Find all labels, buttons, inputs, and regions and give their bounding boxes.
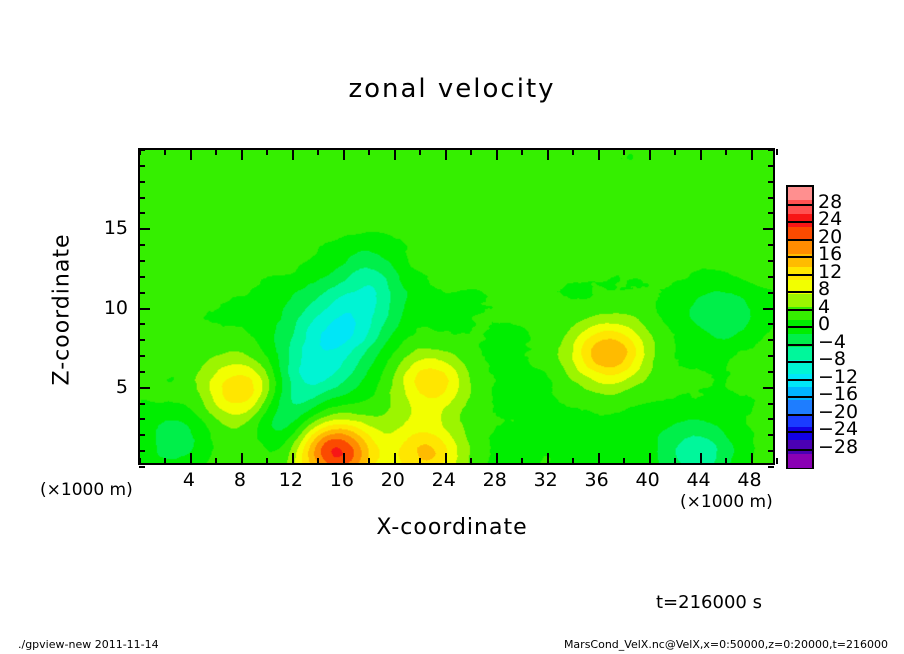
y-axis-title: Z-coordinate: [50, 180, 75, 440]
y-tick: [768, 212, 774, 214]
x-tick: [419, 458, 421, 464]
x-tick: [776, 149, 778, 155]
y-tick: [139, 244, 145, 246]
x-tick: [266, 458, 268, 464]
x-tick: [190, 453, 192, 464]
time-annotation: t=216000 s: [656, 592, 762, 613]
x-tick: [649, 149, 651, 160]
x-tick: [700, 149, 702, 160]
y-tick: [139, 228, 150, 230]
y-tick: [139, 387, 150, 389]
y-tick: [139, 339, 145, 341]
x-tick: [674, 149, 676, 155]
colorbar-level-line: [788, 326, 812, 328]
x-tick: [572, 149, 574, 155]
x-tick: [751, 453, 753, 464]
x-tick: [164, 458, 166, 464]
x-tick: [725, 149, 727, 155]
colorbar-level-line: [788, 449, 812, 451]
x-tick: [215, 149, 217, 155]
y-tick: [139, 403, 145, 405]
x-tick: [496, 453, 498, 464]
x-tick: [292, 453, 294, 464]
colorbar-band: [788, 414, 812, 428]
y-tick: [768, 371, 774, 373]
y-tick: [139, 165, 145, 167]
x-tick: [419, 149, 421, 155]
x-tick-label: 4: [169, 469, 209, 491]
y-tick: [763, 387, 774, 389]
y-tick: [763, 228, 774, 230]
colorbar-band: [788, 187, 812, 201]
x-tick: [241, 149, 243, 160]
y-tick: [768, 292, 774, 294]
colorbar-level-line: [788, 414, 812, 416]
colorbar-level-line: [788, 344, 812, 346]
x-axis-units-left: (×1000 m): [40, 480, 133, 500]
x-tick: [139, 458, 141, 464]
x-tick: [368, 458, 370, 464]
colorbar-level-line: [788, 431, 812, 433]
x-tick: [317, 149, 319, 155]
y-tick: [768, 450, 774, 452]
footer-source: MarsCond_VelX.nc@VelX,x=0:50000,z=0:2000…: [564, 638, 888, 651]
x-tick: [292, 149, 294, 160]
x-axis-title: X-coordinate: [0, 515, 904, 540]
y-tick: [763, 308, 774, 310]
x-tick: [394, 453, 396, 464]
x-tick: [470, 149, 472, 155]
y-tick: [139, 323, 145, 325]
colorbar-tick-label: −28: [818, 438, 858, 457]
velocity-field-heatmap: [140, 150, 773, 463]
x-tick: [700, 453, 702, 464]
x-tick: [725, 458, 727, 464]
y-tick: [768, 149, 774, 151]
x-tick: [368, 149, 370, 155]
y-tick: [139, 434, 145, 436]
y-tick: [139, 466, 145, 468]
x-tick-label: 48: [730, 469, 770, 491]
x-tick: [190, 149, 192, 160]
y-tick: [139, 212, 145, 214]
y-tick: [768, 181, 774, 183]
y-tick: [139, 418, 145, 420]
y-tick: [768, 165, 774, 167]
colorbar-level-line: [788, 309, 812, 311]
y-tick: [139, 292, 145, 294]
colorbar-level-line: [788, 274, 812, 276]
x-tick: [215, 458, 217, 464]
x-tick: [317, 458, 319, 464]
x-tick-label: 8: [220, 469, 260, 491]
x-tick: [445, 453, 447, 464]
x-tick: [266, 149, 268, 155]
y-tick: [139, 371, 145, 373]
y-tick: [768, 434, 774, 436]
x-tick: [445, 149, 447, 160]
x-tick: [547, 453, 549, 464]
y-tick-label: 15: [88, 217, 128, 239]
colorbar-level-line: [788, 396, 812, 398]
y-tick: [139, 450, 145, 452]
x-tick: [598, 149, 600, 160]
y-tick: [139, 308, 150, 310]
y-tick: [768, 197, 774, 199]
x-tick-label: 32: [526, 469, 566, 491]
y-tick: [139, 197, 145, 199]
y-tick: [139, 181, 145, 183]
y-tick-label: 5: [88, 376, 128, 398]
x-tick-label: 36: [577, 469, 617, 491]
x-tick-label: 12: [271, 469, 311, 491]
colorbar-band: [788, 400, 812, 414]
page-title: zonal velocity: [0, 74, 904, 104]
x-tick: [649, 453, 651, 464]
y-tick: [139, 276, 145, 278]
colorbar-level-line: [788, 361, 812, 363]
x-tick: [470, 458, 472, 464]
y-tick: [768, 260, 774, 262]
colorbar-level-line: [788, 291, 812, 293]
colorbar-level-line: [788, 239, 812, 241]
contour-plot-area[interactable]: [138, 148, 775, 465]
colorbar-band: [788, 440, 812, 454]
colorbar-band: [788, 374, 812, 388]
y-tick: [768, 323, 774, 325]
y-tick: [139, 260, 145, 262]
x-tick-label: 24: [424, 469, 464, 491]
x-tick: [623, 149, 625, 155]
x-axis-units-right: (×1000 m): [680, 492, 773, 512]
colorbar-level-line: [788, 256, 812, 258]
colorbar-level-line: [788, 204, 812, 206]
x-tick: [751, 149, 753, 160]
x-tick: [343, 149, 345, 160]
y-tick: [768, 466, 774, 468]
x-tick-label: 28: [475, 469, 515, 491]
y-tick: [768, 355, 774, 357]
colorbar-band: [788, 240, 812, 254]
colorbar-level-line: [788, 221, 812, 223]
colorbar-band: [788, 427, 812, 441]
x-tick-label: 44: [679, 469, 719, 491]
colorbar-band: [788, 387, 812, 401]
footer-command: ./gpview-new 2011-11-14: [18, 638, 159, 651]
x-tick: [674, 458, 676, 464]
x-tick-label: 16: [322, 469, 362, 491]
x-tick: [776, 458, 778, 464]
colorbar[interactable]: [786, 185, 814, 469]
colorbar-level-line: [788, 379, 812, 381]
x-tick: [623, 458, 625, 464]
y-tick: [139, 355, 145, 357]
x-tick: [572, 458, 574, 464]
x-tick: [496, 149, 498, 160]
colorbar-band: [788, 347, 812, 361]
x-tick: [241, 453, 243, 464]
y-tick: [768, 244, 774, 246]
colorbar-band: [788, 200, 812, 214]
x-tick: [521, 458, 523, 464]
x-tick: [343, 453, 345, 464]
x-tick: [164, 149, 166, 155]
x-tick: [547, 149, 549, 160]
x-tick-label: 20: [373, 469, 413, 491]
y-tick: [768, 418, 774, 420]
y-tick: [768, 276, 774, 278]
y-tick: [139, 149, 145, 151]
y-tick-label: 10: [88, 297, 128, 319]
x-tick: [598, 453, 600, 464]
x-tick: [394, 149, 396, 160]
colorbar-band: [788, 294, 812, 308]
y-tick: [768, 339, 774, 341]
colorbar-band: [788, 454, 812, 468]
x-tick: [521, 149, 523, 155]
y-tick: [768, 403, 774, 405]
x-tick-label: 40: [628, 469, 668, 491]
